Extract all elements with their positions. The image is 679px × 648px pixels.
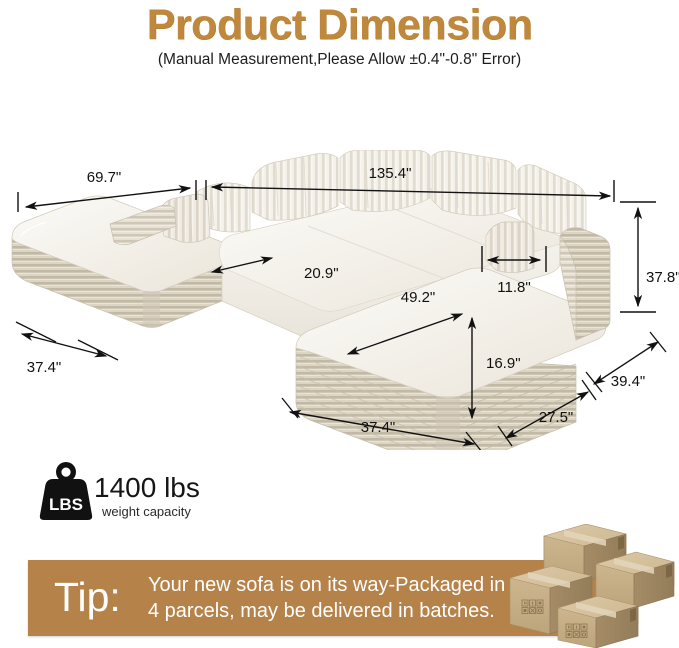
dim-label-135-4: 135.4" [369,165,412,182]
sofa-right-arm-pillow [486,222,534,274]
product-dimension-infographic: Product Dimension (Manual Measurement,Pl… [0,0,679,648]
weight-capacity-block: LBS 1400 lbs weight capacity [38,458,298,530]
tip-line-1: Your new sofa is on its way-Packaged in [148,572,548,598]
parcel-boxes-illustration [500,524,679,648]
svg-text:LBS: LBS [49,495,83,514]
weight-capacity-caption: weight capacity [102,504,191,520]
dim-label-20-9: 20.9" [304,265,339,282]
tip-label: Tip: [54,568,121,626]
tick-37-4-r-a [282,398,298,418]
dim-label-37-4-right: 37.4" [361,419,396,436]
dim-label-11-8: 11.8" [497,279,530,296]
dim-label-69-7: 69.7" [87,169,122,186]
tip-message: Your new sofa is on its way-Packaged in … [148,572,548,624]
dim-label-27-5: 27.5" [539,409,574,426]
weight-capacity-value: 1400 lbs [94,472,200,504]
page-title: Product Dimension [0,2,679,48]
tip-line-2: 4 parcels, may be delivered in batches. [148,598,548,624]
dim-label-39-4: 39.4" [611,373,646,390]
arrow-37-4-left [22,334,106,356]
dim-label-49-2: 49.2" [401,289,436,306]
weight-lbs-icon: LBS [38,460,94,522]
tick-27-5-b [582,380,596,400]
dim-label-37-4-left: 37.4" [27,359,62,376]
dim-label-16-9: 16.9" [486,355,521,372]
sofa-illustration [12,150,610,450]
measurement-disclaimer: (Manual Measurement,Please Allow ±0.4"-0… [0,50,679,70]
tick-37-4-l-a [16,322,56,342]
sofa-dimension-diagram: 69.7" 135.4" 20.9" 37.4" 49.2" 11.8" 37.… [0,150,679,450]
dim-label-37-8: 37.8" [646,269,679,286]
